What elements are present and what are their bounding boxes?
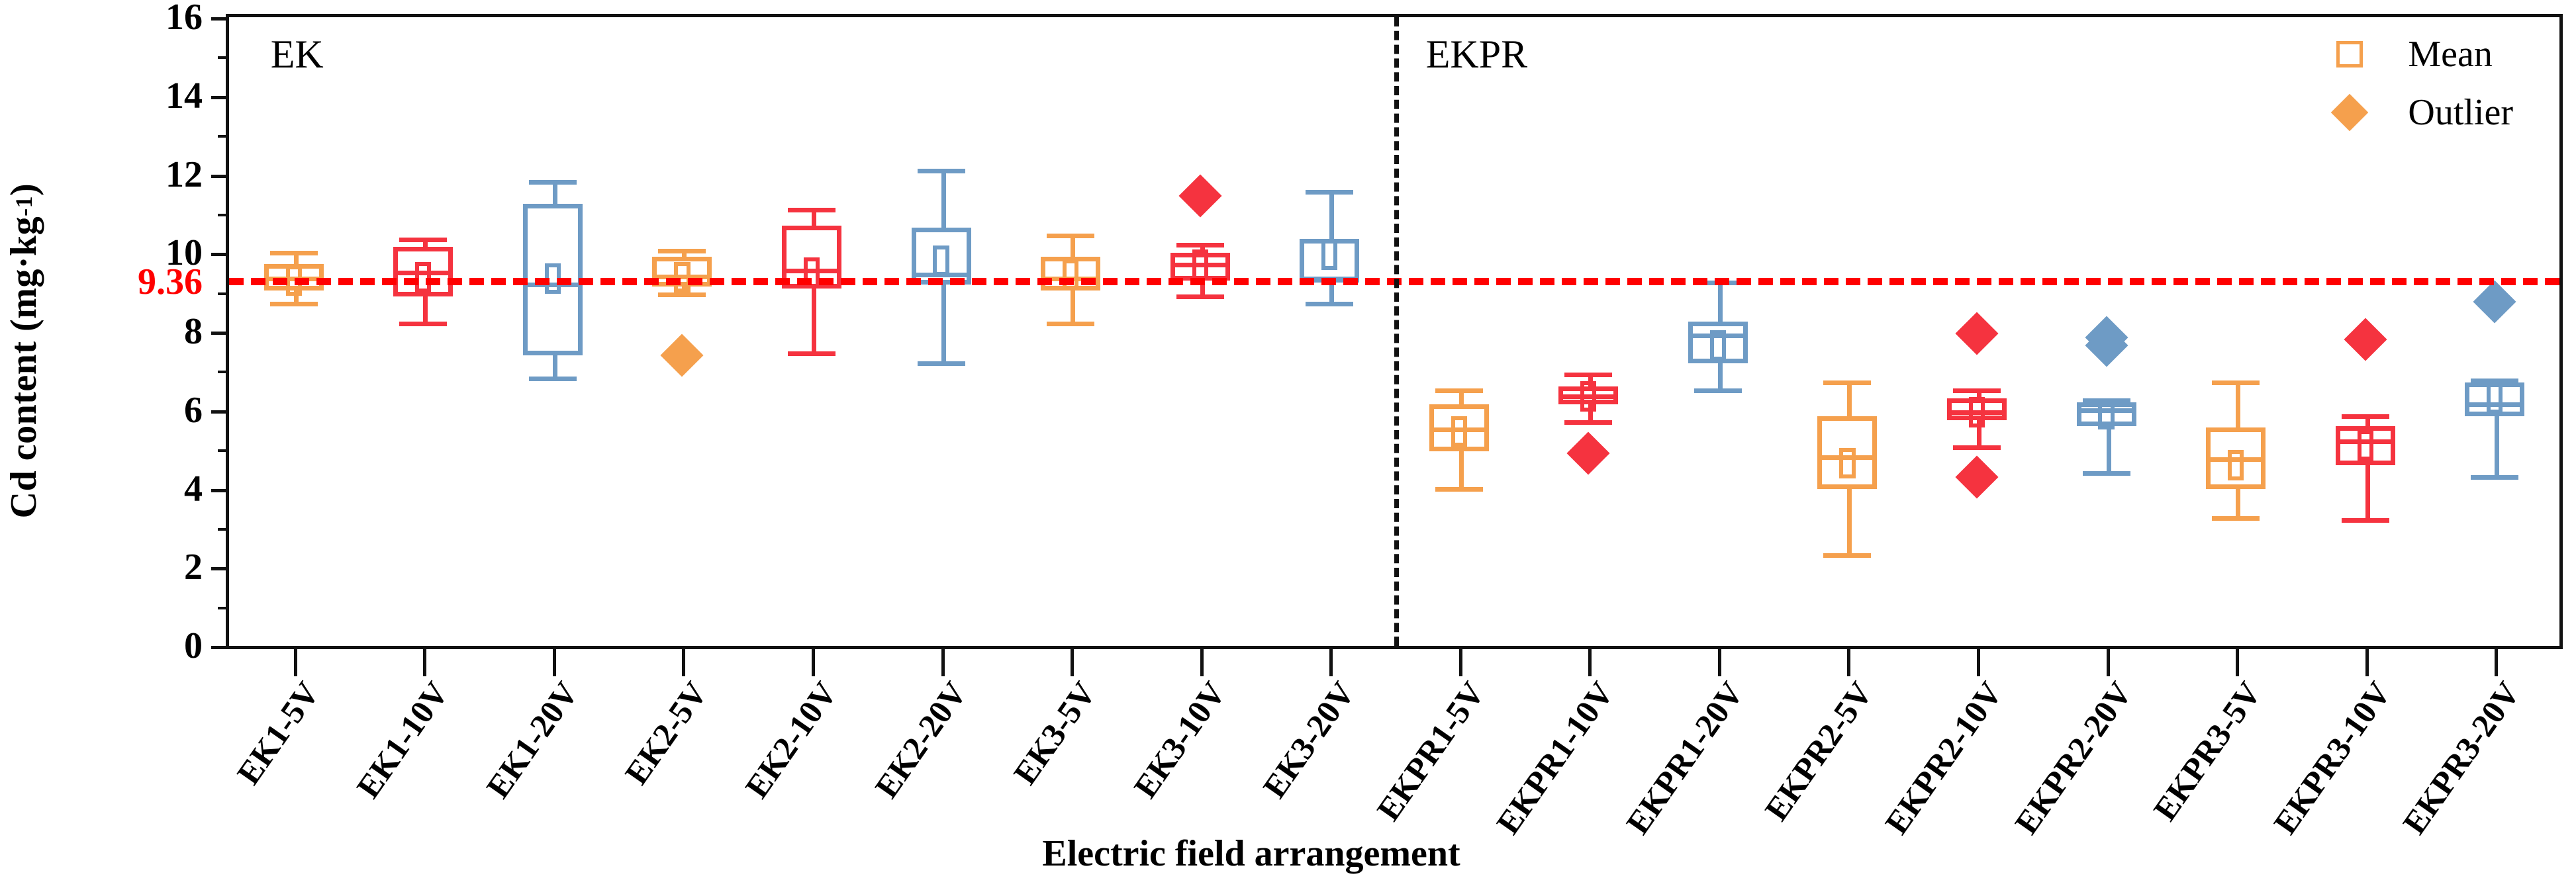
whisker-upper [941,169,946,228]
whisker-cap-lower [918,361,965,366]
whisker-lower [812,289,816,351]
mean-marker [933,245,949,276]
whisker-cap-lower [1176,294,1224,299]
whisker-lower [2236,489,2240,517]
whisker-cap-lower [1306,302,1353,306]
x-tick [1847,646,1850,676]
mean-marker [1969,397,1985,427]
whisker-cap-lower [1564,420,1612,425]
plot-inner: 0246810121416 EK EKPR Mean Outlier [229,17,2559,646]
x-tick-label: EKPR2-5V [1757,674,1880,827]
x-tick-label: EKPR2-10V [1877,674,2009,841]
outlier-marker [1567,432,1610,475]
x-tick [2107,646,2110,676]
x-tick [1459,646,1462,676]
section-label-ekpr: EKPR [1426,32,1527,77]
outlier-marker [1955,312,1998,355]
mean-marker [674,262,690,292]
y-tick-major [211,253,229,256]
mean-square-icon [2331,36,2368,73]
whisker-cap-upper [1823,380,1871,385]
mean-marker [1321,240,1337,270]
whisker-cap-lower [2471,475,2518,480]
whisker-cap-upper [270,251,318,255]
section-divider [1394,17,1399,646]
x-tick-label: EKPR3-10V [2266,674,2398,841]
whisker-cap-lower [1435,487,1483,492]
whisker-cap-upper [1176,243,1224,247]
x-tick-label: EK3-5V [1006,674,1104,791]
whisker-cap-upper [1435,388,1483,393]
mean-marker [2358,430,2373,461]
x-tick-label: EK3-10V [1125,674,1233,805]
reference-line-label: 9.36 [138,261,203,303]
outlier-diamond-icon [2331,94,2368,131]
y-tick-major [211,567,229,570]
mean-marker [1580,381,1596,412]
y-tick-major [211,646,229,649]
legend-entry-mean: Mean [2331,33,2513,75]
whisker-upper [1718,281,1723,322]
mean-marker [2098,399,2114,429]
y-tick-label: 0 [184,625,203,667]
x-tick-label: EK1-5V [229,674,327,791]
whisker-upper [1329,190,1334,239]
whisker-cap-lower [2212,516,2260,521]
x-tick-label: EKPR3-5V [2146,674,2269,827]
x-tick [1071,646,1074,676]
x-tick-label: EK1-20V [478,674,585,805]
x-tick-label: EKPR2-20V [2007,674,2139,841]
outlier-marker [2473,281,2516,324]
whisker-cap-upper [1953,388,2001,393]
mean-marker [1839,448,1855,478]
whisker-cap-lower [270,302,318,306]
whisker-cap-upper [918,169,965,173]
whisker-cap-upper [788,208,835,212]
y-axis-title: Cd content (mg·kg-1) [4,20,44,682]
x-tick [1588,646,1592,676]
y-tick-minor [218,449,229,452]
whisker-cap-lower [1953,445,2001,450]
y-tick-label: 2 [184,546,203,588]
mean-marker [1451,416,1467,447]
y-tick-minor [218,214,229,216]
x-tick [1977,646,1980,676]
y-tick-minor [218,292,229,295]
whisker-lower [2495,416,2499,475]
chart-root: Cd content (mg·kg-1) Electric field arra… [0,0,2576,892]
x-tick [2365,646,2369,676]
whisker-cap-lower [2083,471,2130,476]
x-tick [812,646,815,676]
x-tick [294,646,297,676]
y-tick-minor [218,56,229,59]
whisker-cap-upper [1047,234,1094,238]
y-tick-major [211,410,229,414]
section-label-ek: EK [271,32,324,77]
whisker-lower [1071,290,1075,322]
whisker-cap-lower [529,377,577,381]
mean-marker [415,262,431,292]
whisker-cap-lower [2342,518,2389,523]
outlier-marker [661,334,704,377]
whisker-lower [1847,489,1852,554]
y-tick-minor [218,528,229,531]
legend-label-outlier: Outlier [2408,91,2513,134]
whisker-cap-lower [399,322,447,326]
legend: Mean Outlier [2331,33,2513,134]
y-tick-major [211,489,229,492]
x-axis-title: Electric field arrangement [722,832,1781,875]
whisker-lower [1459,451,1464,486]
outlier-marker [1955,455,1998,498]
whisker-upper [2236,380,2240,427]
x-tick-label: EK2-10V [738,674,845,805]
whisker-cap-upper [399,238,447,242]
mean-marker [2487,383,2503,414]
x-tick [1329,646,1333,676]
y-tick-label: 14 [166,75,203,117]
whisker-upper [1847,380,1852,416]
x-tick-label: EK2-5V [617,674,715,791]
whisker-lower [941,285,946,361]
y-tick-major [211,332,229,335]
legend-label-mean: Mean [2408,33,2493,75]
x-tick-label: EK2-20V [867,674,974,805]
whisker-lower [423,296,428,322]
mean-marker [1192,249,1208,280]
legend-entry-outlier: Outlier [2331,91,2513,134]
whisker-cap-upper [1306,190,1353,195]
y-tick-label: 4 [184,468,203,510]
mean-marker [2228,450,2244,480]
outlier-marker [1178,175,1221,218]
x-tick [1718,646,1721,676]
y-tick-major [211,17,229,21]
x-tick [423,646,426,676]
y-tick-label: 6 [184,389,203,431]
plot-area: 0246810121416 EK EKPR Mean Outlier [226,14,2563,649]
x-tick-label: EKPR1-5V [1368,674,1492,827]
whisker-lower [2365,465,2370,518]
whisker-cap-lower [1823,553,1871,558]
whisker-cap-lower [658,292,706,297]
y-tick-minor [218,135,229,138]
mean-marker [1710,330,1726,361]
x-tick-label: EK3-20V [1255,674,1362,805]
x-tick-label: EKPR1-10V [1489,674,1621,841]
whisker-cap-upper [658,249,706,253]
outlier-marker [2344,318,2387,361]
x-tick [941,646,945,676]
x-tick-label: EKPR1-20V [1618,674,1750,841]
x-tick [682,646,685,676]
x-tick [2236,646,2239,676]
whisker-cap-lower [1047,322,1094,326]
whisker-lower [1718,363,1723,389]
whisker-cap-upper [1564,373,1612,377]
y-tick-label: 16 [166,0,203,38]
whisker-cap-upper [2342,414,2389,419]
x-tick [2495,646,2498,676]
y-tick-major [211,96,229,99]
y-tick-label: 8 [184,310,203,353]
y-tick-minor [218,607,229,609]
x-tick [553,646,556,676]
whisker-cap-lower [788,351,835,356]
whisker-lower [2107,426,2111,471]
y-tick-major [211,175,229,178]
whisker-cap-upper [2212,380,2260,385]
x-tick [1200,646,1204,676]
x-tick-label: EK1-10V [349,674,456,805]
y-tick-minor [218,371,229,373]
whisker-lower [553,355,557,377]
whisker-cap-lower [1694,388,1742,393]
y-tick-label: 12 [166,154,203,196]
x-tick-label: EKPR3-20V [2395,674,2528,841]
whisker-cap-upper [529,180,577,185]
